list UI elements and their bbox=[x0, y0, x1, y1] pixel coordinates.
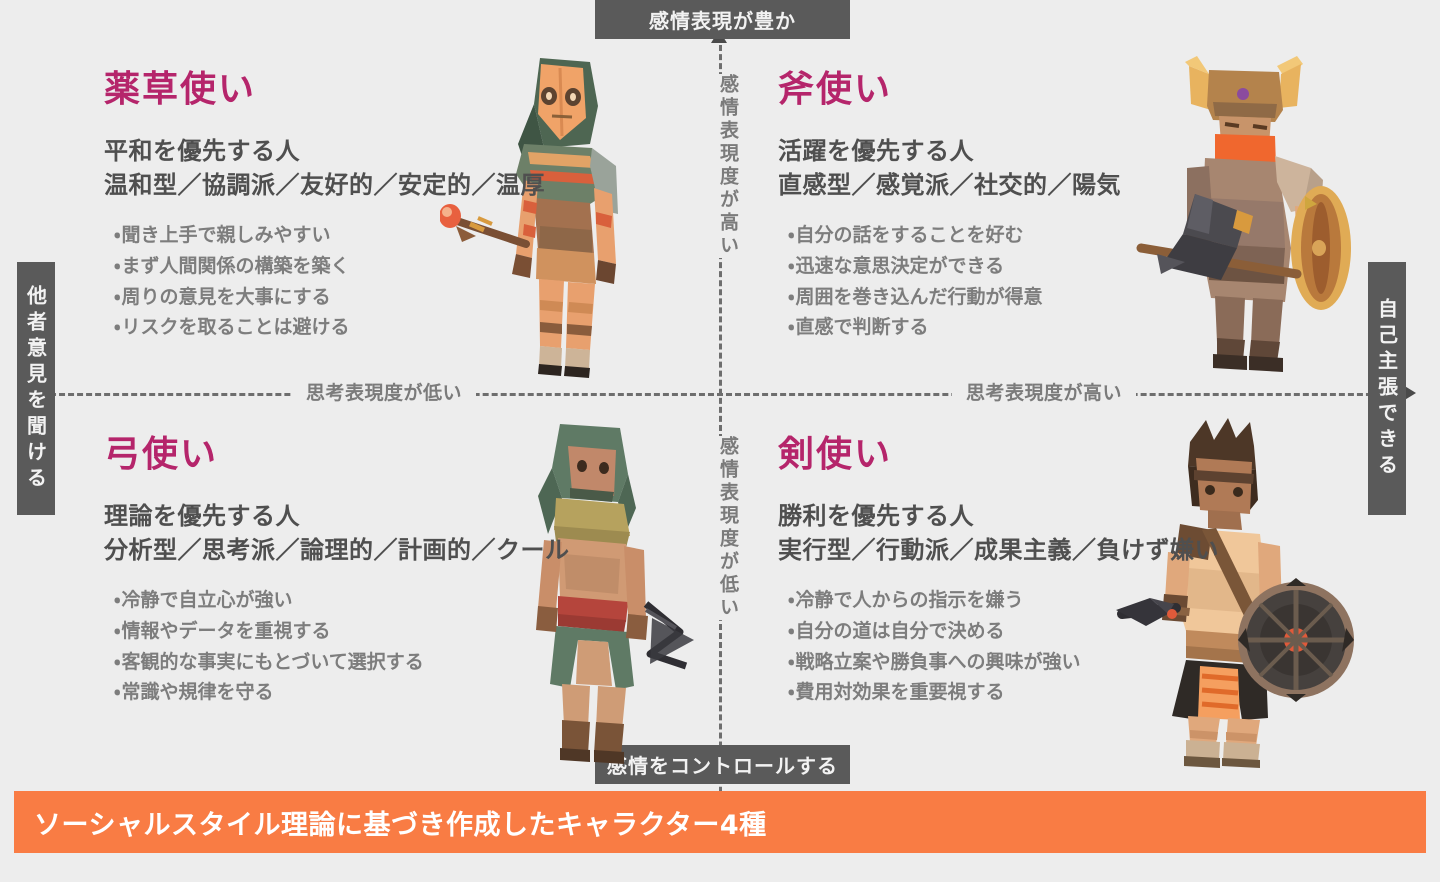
quadrant-top-left: 薬草使い 平和を優先する人 温和型／協調派／友好的／安定的／温厚 聞き上手で親し… bbox=[104, 72, 545, 343]
subtitle-line-2: 実行型／行動派／成果主義／負けず嫌い bbox=[778, 533, 1219, 567]
subtitle-line-2: 分析型／思考派／論理的／計画的／クール bbox=[104, 533, 570, 567]
list-item: 迅速な意思決定ができる bbox=[788, 251, 1121, 282]
quadrant-bottom-left: 弓使い 理論を優先する人 分析型／思考派／論理的／計画的／クール 冷静で自立心が… bbox=[104, 437, 570, 708]
banner-caption: ソーシャルスタイル理論に基づき作成したキャラクター4種 bbox=[14, 803, 767, 842]
quadrant-subtitle-swordsman: 勝利を優先する人 実行型／行動派／成果主義／負けず嫌い bbox=[778, 499, 1219, 567]
quadrant-title-axe-warrior: 斧使い bbox=[778, 72, 1121, 108]
subtitle-line-1: 平和を優先する人 bbox=[104, 134, 545, 168]
pole-label-left: 他者意見を聞ける bbox=[17, 262, 55, 515]
quadrant-subtitle-herbalist: 平和を優先する人 温和型／協調派／友好的／安定的／温厚 bbox=[104, 134, 545, 202]
list-item: 情報やデータを重視する bbox=[114, 616, 570, 647]
quadrant-title-archer: 弓使い bbox=[104, 437, 570, 473]
trait-list-swordsman: 冷静で人からの指示を嫌う 自分の道は自分で決める 戦略立案や勝負事への興味が強い… bbox=[778, 585, 1219, 708]
list-item: 冷静で人からの指示を嫌う bbox=[788, 585, 1219, 616]
subtitle-line-1: 活躍を優先する人 bbox=[778, 134, 1121, 168]
trait-list-archer: 冷静で自立心が強い 情報やデータを重視する 客観的な事実にもとづいて選択する 常… bbox=[104, 585, 570, 708]
quadrant-subtitle-axe-warrior: 活躍を優先する人 直感型／感覚派／社交的／陽気 bbox=[778, 134, 1121, 202]
list-item: まず人間関係の構築を築く bbox=[114, 251, 545, 282]
list-item: 自分の話をすることを好む bbox=[788, 220, 1121, 251]
list-item: 冷静で自立心が強い bbox=[114, 585, 570, 616]
list-item: 戦略立案や勝負事への興味が強い bbox=[788, 647, 1219, 678]
subtitle-line-1: 理論を優先する人 bbox=[104, 499, 570, 533]
pole-label-right: 自己主張できる bbox=[1368, 262, 1406, 515]
trait-list-axe-warrior: 自分の話をすることを好む 迅速な意思決定ができる 周囲を巻き込んだ行動が得意 直… bbox=[778, 220, 1121, 343]
pole-label-top: 感情表現が豊か bbox=[595, 0, 850, 39]
quadrant-subtitle-archer: 理論を優先する人 分析型／思考派／論理的／計画的／クール bbox=[104, 499, 570, 567]
list-item: 客観的な事実にもとづいて選択する bbox=[114, 647, 570, 678]
quadrant-top-right: 斧使い 活躍を優先する人 直感型／感覚派／社交的／陽気 自分の話をすることを好む… bbox=[778, 72, 1121, 343]
axe-warrior-character-illustration bbox=[1125, 48, 1360, 378]
bottom-banner: ソーシャルスタイル理論に基づき作成したキャラクター4種 bbox=[14, 791, 1426, 853]
social-style-matrix: 思考表現度が低い 思考表現度が高い 感情表現度が高い 感情表現度が低い 感情表現… bbox=[0, 0, 1440, 882]
subtitle-line-1: 勝利を優先する人 bbox=[778, 499, 1219, 533]
list-item: 自分の道は自分で決める bbox=[788, 616, 1219, 647]
list-item: 周囲を巻き込んだ行動が得意 bbox=[788, 282, 1121, 313]
quadrant-bottom-right: 剣使い 勝利を優先する人 実行型／行動派／成果主義／負けず嫌い 冷静で人からの指… bbox=[778, 437, 1219, 708]
list-item: 聞き上手で親しみやすい bbox=[114, 220, 545, 251]
quadrant-title-herbalist: 薬草使い bbox=[104, 72, 545, 108]
list-item: リスクを取ることは避ける bbox=[114, 312, 545, 343]
trait-list-herbalist: 聞き上手で親しみやすい まず人間関係の構築を築く 周りの意見を大事にする リスク… bbox=[104, 220, 545, 343]
list-item: 周りの意見を大事にする bbox=[114, 282, 545, 313]
list-item: 費用対効果を重要視する bbox=[788, 677, 1219, 708]
list-item: 直感で判断する bbox=[788, 312, 1121, 343]
quadrant-title-swordsman: 剣使い bbox=[778, 437, 1219, 473]
axis-label-emotion-high: 感情表現度が高い bbox=[698, 74, 742, 258]
list-item: 常識や規律を守る bbox=[114, 677, 570, 708]
subtitle-line-2: 温和型／協調派／友好的／安定的／温厚 bbox=[104, 168, 545, 202]
axis-label-thinking-high: 思考表現度が高い bbox=[952, 378, 1136, 408]
axis-label-thinking-low: 思考表現度が低い bbox=[292, 378, 476, 408]
subtitle-line-2: 直感型／感覚派／社交的／陽気 bbox=[778, 168, 1121, 202]
